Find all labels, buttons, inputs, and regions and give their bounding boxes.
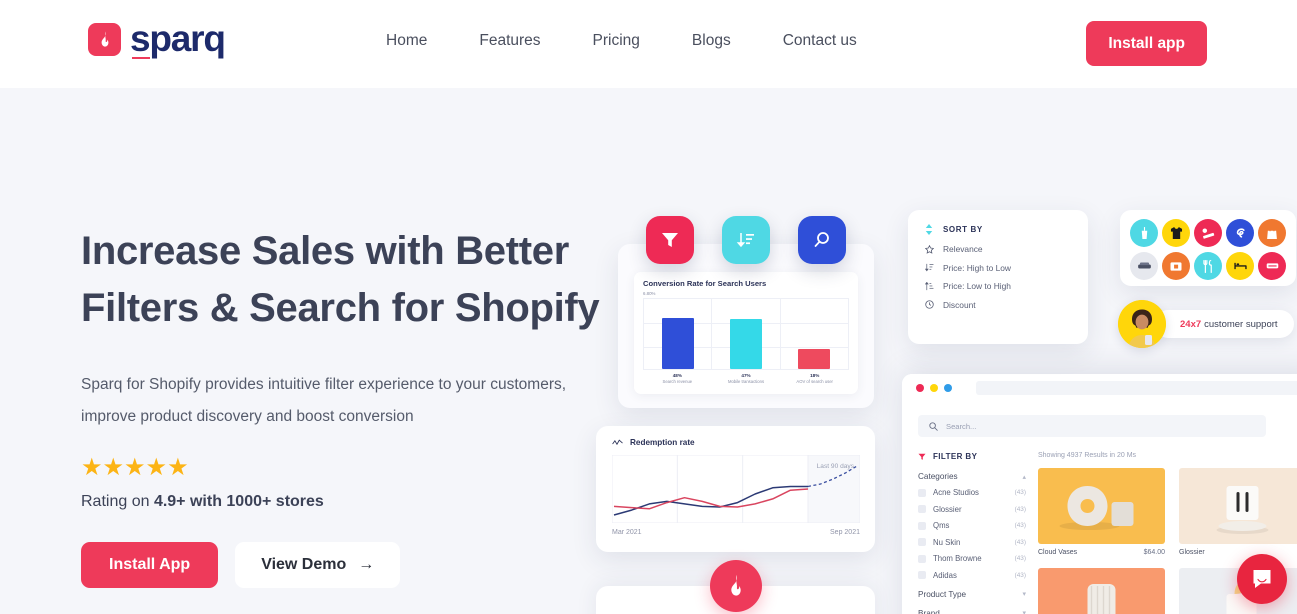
results-count: Showing 4937 Results in 20 Ms (1038, 452, 1297, 459)
logo-text: sparq (130, 20, 225, 59)
conversion-bar-cell (712, 299, 780, 369)
conversion-chart-title: Conversion Rate for Search Users (643, 279, 849, 288)
funnel-icon (918, 453, 926, 461)
filter-option[interactable]: Qms (43) (918, 521, 1026, 530)
bar-mobile-transactions (730, 319, 762, 369)
redemption-rate-card: Redemption rate Last 90 days Mar 2021 Se… (596, 426, 875, 552)
logo[interactable]: sparq (88, 20, 225, 59)
product-card[interactable]: Textured Cup $56.00 (1038, 568, 1165, 614)
swirl-icon[interactable] (1226, 219, 1254, 247)
sparq-promo-card: sparq Deliver an intuitive search experi… (596, 586, 875, 614)
redemption-annotation: Last 90 days (817, 463, 854, 470)
filter-by-label: FILTER BY (933, 452, 977, 461)
support-highlight: 24x7 (1180, 319, 1201, 330)
filter-option-count: (43) (1015, 489, 1026, 496)
filter-option-count: (43) (1015, 572, 1026, 579)
install-app-header-button[interactable]: Install app (1086, 21, 1207, 66)
bar-value-2: 18% (780, 373, 849, 378)
redemption-heading: Redemption rate (612, 438, 859, 447)
filter-section-categories[interactable]: Categories ▴ (918, 472, 1026, 481)
product-name: Glossier (1179, 549, 1205, 556)
search-input[interactable]: Search... (918, 415, 1266, 437)
filter-option-label: Glossier (933, 505, 1008, 514)
filter-option[interactable]: Thom Browne (43) (918, 554, 1026, 563)
filter-section-product-type[interactable]: Product Type ▾ (918, 590, 1026, 599)
feature-badges (646, 216, 846, 264)
sort-option-label: Relevance (943, 244, 983, 254)
conversion-chart-card: Conversion Rate for Search Users 6.80% 4… (618, 244, 874, 408)
trend-line-icon (612, 439, 623, 446)
filter-option-label: Nu Skin (933, 538, 1008, 547)
relevance-icon (924, 245, 934, 254)
filter-option[interactable]: Acne Studios (43) (918, 488, 1026, 497)
support-agent-avatar (1118, 300, 1166, 348)
conversion-chart: Conversion Rate for Search Users 6.80% 4… (634, 272, 858, 394)
search-badge[interactable] (798, 216, 846, 264)
support-widget: 24x7 customer support (1118, 300, 1294, 348)
sort-option-price-high-low[interactable]: Price: High to Low (924, 263, 1072, 273)
sort-option-discount[interactable]: Discount (924, 300, 1072, 310)
filter-option-count: (43) (1015, 555, 1026, 562)
window-maximize-dot[interactable] (944, 384, 952, 392)
sort-icon (736, 230, 756, 250)
checkbox[interactable] (918, 489, 926, 497)
product-image (1038, 568, 1165, 614)
camera-icon[interactable] (1162, 252, 1190, 280)
logo-underline (132, 57, 150, 60)
nav-item-features[interactable]: Features (479, 32, 540, 50)
flame-icon (88, 23, 121, 56)
conversion-chart-ymax: 6.80% (643, 291, 849, 296)
hero-copy: Increase Sales with Better Filters & Sea… (81, 223, 626, 588)
view-demo-label: View Demo (261, 556, 346, 574)
category-icons-card (1120, 210, 1296, 286)
sofa-icon[interactable] (1130, 252, 1158, 280)
filter-option[interactable]: Nu Skin (43) (918, 538, 1026, 547)
redemption-plot: Last 90 days (612, 455, 860, 523)
drink-icon[interactable] (1130, 219, 1158, 247)
nav-item-blogs[interactable]: Blogs (692, 32, 731, 50)
conversion-chart-labels: 48% Search revenue 47% Mobile transactio… (643, 373, 849, 385)
bar-aov-search-user (798, 349, 830, 368)
redemption-tick-start: Mar 2021 (612, 529, 642, 536)
support-label: 24x7 customer support (1154, 310, 1294, 338)
filter-section-brand[interactable]: Brand ▾ (918, 609, 1026, 614)
browser-titlebar (902, 374, 1297, 401)
bar-value-1: 47% (712, 373, 781, 378)
logo-wordmark: sparq (130, 18, 225, 59)
sort-by-heading: SORT BY (924, 224, 1072, 235)
filter-option-label: Acne Studios (933, 488, 1008, 497)
product-image (1179, 468, 1297, 544)
cutlery-icon[interactable] (1194, 252, 1222, 280)
nav-item-contact-us[interactable]: Contact us (783, 32, 857, 50)
nav-item-home[interactable]: Home (386, 32, 427, 50)
flame-icon (710, 560, 762, 612)
filter-sidebar: FILTER BY Categories ▴ Acne Studios (43)… (918, 452, 1026, 614)
nav-item-pricing[interactable]: Pricing (593, 32, 640, 50)
sort-option-label: Price: High to Low (943, 263, 1011, 273)
sort-asc-icon (924, 282, 934, 291)
sort-option-price-low-high[interactable]: Price: Low to High (924, 281, 1072, 291)
product-card[interactable]: Cloud Vases $64.00 (1038, 468, 1165, 556)
filter-option-count: (43) (1015, 539, 1026, 546)
filter-option-label: Qms (933, 521, 1008, 530)
funnel-icon (660, 230, 680, 250)
rating-stars: ★★★★★ (81, 456, 626, 480)
bag-icon[interactable] (1258, 219, 1286, 247)
product-price: $64.00 (1144, 549, 1165, 556)
filter-option-label: Thom Browne (933, 554, 1008, 563)
checkbox[interactable] (918, 522, 926, 530)
search-icon (929, 422, 938, 431)
rating-text: Rating on 4.9+ with 1000+ stores (81, 493, 626, 511)
bar-search-revenue (662, 318, 694, 369)
chevron-down-icon: ▾ (1022, 609, 1026, 614)
support-text: customer support (1204, 319, 1277, 330)
discount-icon (924, 300, 934, 309)
product-name: Cloud Vases (1038, 549, 1077, 556)
bed-icon[interactable] (1226, 252, 1254, 280)
view-demo-button[interactable]: View Demo → (235, 542, 400, 588)
hero-section: Increase Sales with Better Filters & Sea… (0, 88, 1297, 614)
window-minimize-dot[interactable] (930, 384, 938, 392)
install-app-button[interactable]: Install App (81, 542, 218, 588)
search-icon (812, 230, 832, 250)
rating-prefix: Rating on (81, 493, 154, 510)
redemption-axis: Mar 2021 Sep 2021 (612, 529, 860, 536)
checkbox[interactable] (918, 555, 926, 563)
redemption-title: Redemption rate (630, 438, 695, 447)
search-placeholder: Search... (946, 422, 976, 431)
filter-option-count: (43) (1015, 522, 1026, 529)
ticket-icon[interactable] (1258, 252, 1286, 280)
tools-icon[interactable] (1194, 219, 1222, 247)
sort-option-label: Discount (943, 300, 976, 310)
shirt-icon[interactable] (1162, 219, 1190, 247)
filter-badge[interactable] (646, 216, 694, 264)
bar-value-0: 48% (643, 373, 712, 378)
redemption-tick-end: Sep 2021 (830, 529, 860, 536)
hero-subtext: Sparq for Shopify provides intuitive fil… (81, 369, 601, 434)
arrow-right-icon: → (358, 556, 374, 574)
checkbox[interactable] (918, 571, 926, 579)
checkbox[interactable] (918, 505, 926, 513)
conversion-bar-cell (781, 299, 848, 369)
rating-value: 4.9+ with 1000+ stores (154, 493, 324, 510)
bar-label-2: AOV of search user (780, 379, 849, 384)
updown-arrows-icon (924, 224, 934, 235)
filter-by-heading: FILTER BY (918, 452, 1026, 461)
filter-section-label: Product Type (918, 590, 966, 599)
chevron-down-icon: ▾ (1022, 590, 1026, 598)
bar-label-0: Search revenue (643, 379, 712, 384)
sort-option-label: Price: Low to High (943, 281, 1011, 291)
filter-option-label: Adidas (933, 571, 1008, 580)
checkbox[interactable] (918, 538, 926, 546)
sort-badge[interactable] (722, 216, 770, 264)
conversion-bar-cell (644, 299, 712, 369)
filter-option[interactable]: Glossier (43) (918, 505, 1026, 514)
hero-cta-row: Install App View Demo → (81, 542, 626, 588)
filter-option-count: (43) (1015, 506, 1026, 513)
filter-section-label: Categories (918, 472, 958, 481)
sort-by-card: SORT BY Relevance Price: High to Low Pri… (908, 210, 1088, 344)
filter-option[interactable]: Adidas (43) (918, 571, 1026, 580)
product-card[interactable]: Glossier $0 (1179, 468, 1297, 556)
product-image (1038, 468, 1165, 544)
conversion-chart-plot (643, 298, 849, 370)
site-header: sparq Home Features Pricing Blogs Contac… (0, 0, 1297, 88)
bar-label-1: Mobile transactions (712, 379, 781, 384)
chevron-up-icon: ▴ (1022, 473, 1026, 481)
browser-url-bar[interactable] (976, 381, 1297, 395)
filter-section-label: Brand (918, 609, 940, 614)
main-nav: Home Features Pricing Blogs Contact us (386, 32, 857, 50)
sort-by-label: SORT BY (943, 225, 983, 234)
sort-desc-icon (924, 263, 934, 272)
sort-option-relevance[interactable]: Relevance (924, 244, 1072, 254)
window-close-dot[interactable] (916, 384, 924, 392)
page-title: Increase Sales with Better Filters & Sea… (81, 223, 626, 337)
chat-bubble-icon[interactable] (1237, 554, 1287, 604)
